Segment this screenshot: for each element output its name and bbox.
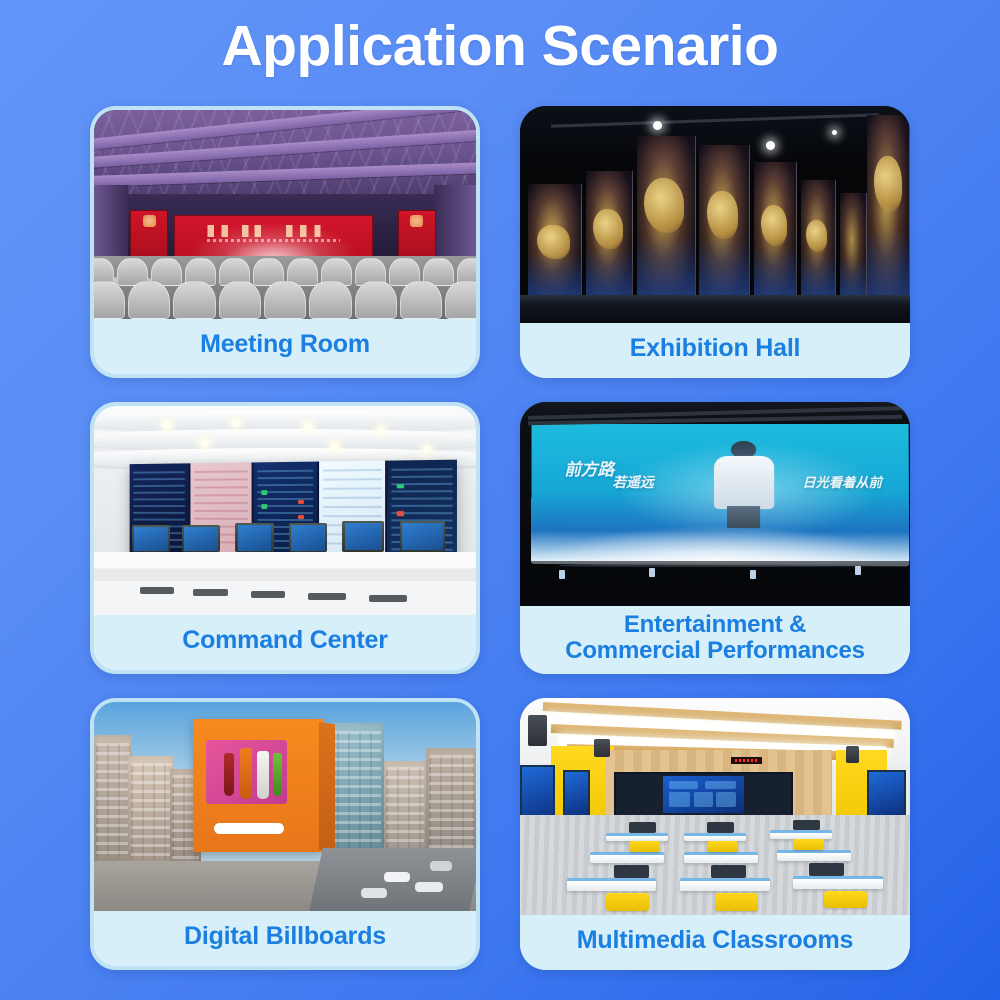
scenario-card-grid: Meeting Room [90,106,910,970]
scenario-image-multimedia-classrooms [520,698,910,915]
scenario-caption-command-center: Command Center [94,615,476,670]
caption-line: Entertainment & [565,612,865,638]
caption-line: Command Center [182,627,388,654]
scenario-card-meeting-room[interactable]: Meeting Room [90,106,480,378]
page-title: Application Scenario [0,0,1000,75]
scenario-card-entertainment[interactable]: 前方路 若遥远 日光看着从前 [520,402,910,674]
scenario-card-digital-billboards[interactable]: Digital Billboards [90,698,480,970]
scenario-caption-digital-billboards: Digital Billboards [94,911,476,966]
scenario-card-command-center[interactable]: Command Center [90,402,480,674]
scenario-image-digital-billboards [94,702,476,911]
caption-line: Multimedia Classrooms [577,927,853,954]
caption-line: Exhibition Hall [630,335,801,362]
scenario-image-meeting-room [94,110,476,319]
scenario-caption-meeting-room: Meeting Room [94,319,476,374]
caption-line: Digital Billboards [184,923,386,950]
scenario-image-exhibition-hall [520,106,910,323]
scenario-image-command-center [94,406,476,615]
scenario-caption-exhibition-hall: Exhibition Hall [520,323,910,378]
scenario-card-exhibition-hall[interactable]: Exhibition Hall [520,106,910,378]
application-scenario-page: Application Scenario [0,0,1000,1000]
caption-line: Commercial Performances [565,638,865,664]
caption-line: Meeting Room [200,331,370,358]
scenario-image-entertainment: 前方路 若遥远 日光看着从前 [520,402,910,606]
scenario-caption-multimedia-classrooms: Multimedia Classrooms [520,915,910,970]
scenario-caption-entertainment: Entertainment & Commercial Performances [520,606,910,674]
scenario-card-multimedia-classrooms[interactable]: Multimedia Classrooms [520,698,910,970]
